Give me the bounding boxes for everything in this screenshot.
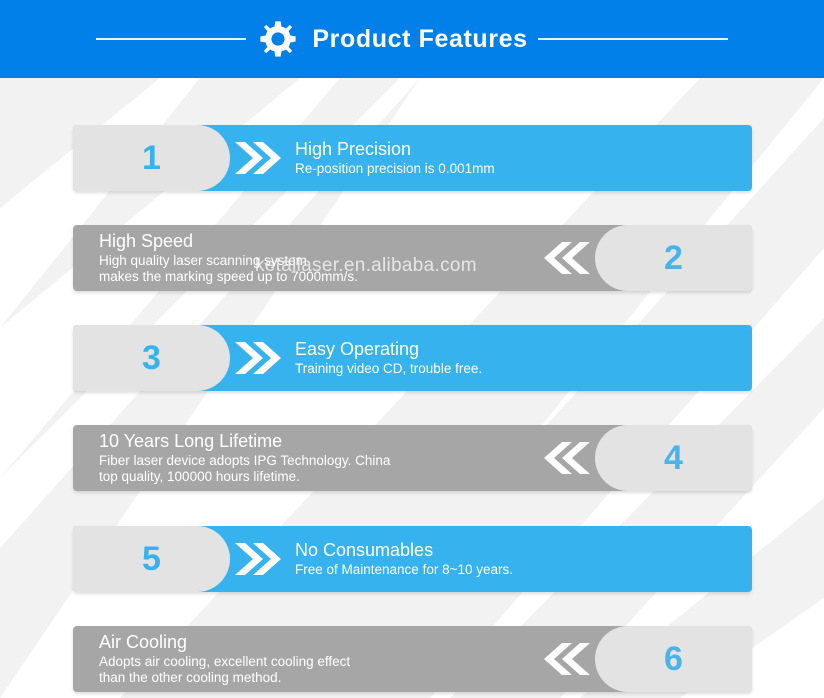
feature-number-2: 2 xyxy=(664,241,683,275)
feature-desc-2-line2: makes the marking speed up to 7000mm/s. xyxy=(99,269,530,285)
feature-desc-6-line2: than the other cooling method. xyxy=(99,670,530,686)
feature-text-3: Easy Operating Training video CD, troubl… xyxy=(295,325,738,391)
feature-text-4: 10 Years Long Lifetime Fiber laser devic… xyxy=(99,425,530,491)
feature-number-cap-4: 4 xyxy=(595,425,752,491)
feature-number-cap-6: 6 xyxy=(595,626,752,692)
feature-row-2[interactable]: 2 High Speed High quality laser scanning… xyxy=(73,225,752,291)
feature-title-6: Air Cooling xyxy=(99,632,530,652)
feature-number-cap-5: 5 xyxy=(73,526,230,592)
feature-text-5: No Consumables Free of Maintenance for 8… xyxy=(295,526,738,592)
feature-title-2: High Speed xyxy=(99,231,530,251)
feature-number-6: 6 xyxy=(664,642,683,676)
feature-row-6[interactable]: 6 Air Cooling Adopts air cooling, excell… xyxy=(73,626,752,692)
feature-text-6: Air Cooling Adopts air cooling, excellen… xyxy=(99,626,530,692)
header-rule-right xyxy=(538,38,728,40)
feature-title-3: Easy Operating xyxy=(295,339,738,359)
feature-row-1[interactable]: 1 High Precision Re-position precision i… xyxy=(73,125,752,191)
feature-desc-1-line1: Re-position precision is 0.001mm xyxy=(295,161,738,177)
feature-number-cap-1: 1 xyxy=(73,125,230,191)
chevron-right-icon xyxy=(225,125,289,191)
header-rule-left xyxy=(96,38,246,40)
gear-icon xyxy=(256,17,300,61)
feature-number-1: 1 xyxy=(142,141,161,175)
feature-rows: 1 High Precision Re-position precision i… xyxy=(0,78,824,698)
feature-number-5: 5 xyxy=(142,542,161,576)
feature-text-1: High Precision Re-position precision is … xyxy=(295,125,738,191)
feature-desc-2-line1: High quality laser scanning system xyxy=(99,253,530,269)
feature-desc-5-line1: Free of Maintenance for 8~10 years. xyxy=(295,562,738,578)
feature-desc-3-line1: Training video CD, trouble free. xyxy=(295,361,738,377)
feature-number-cap-2: 2 xyxy=(595,225,752,291)
feature-title-1: High Precision xyxy=(295,139,738,159)
product-features-page: Product Features 1 xyxy=(0,0,824,698)
feature-row-5[interactable]: 5 No Consumables Free of Maintenance for… xyxy=(73,526,752,592)
page-title: Product Features xyxy=(312,25,527,54)
feature-number-3: 3 xyxy=(142,341,161,375)
feature-desc-4-line2: top quality, 100000 hours lifetime. xyxy=(99,469,530,485)
chevron-right-icon xyxy=(225,325,289,391)
chevron-right-icon xyxy=(225,526,289,592)
feature-desc-4-line1: Fiber laser device adopts IPG Technology… xyxy=(99,453,530,469)
feature-row-3[interactable]: 3 Easy Operating Training video CD, trou… xyxy=(73,325,752,391)
chevron-left-icon xyxy=(536,626,600,692)
feature-text-2: High Speed High quality laser scanning s… xyxy=(99,225,530,291)
feature-number-cap-3: 3 xyxy=(73,325,230,391)
chevron-left-icon xyxy=(536,225,600,291)
header-banner: Product Features xyxy=(0,0,824,78)
header-content: Product Features xyxy=(0,0,824,78)
feature-number-4: 4 xyxy=(664,441,683,475)
feature-title-4: 10 Years Long Lifetime xyxy=(99,431,530,451)
feature-title-5: No Consumables xyxy=(295,540,738,560)
feature-row-4[interactable]: 4 10 Years Long Lifetime Fiber laser dev… xyxy=(73,425,752,491)
feature-desc-6-line1: Adopts air cooling, excellent cooling ef… xyxy=(99,654,530,670)
chevron-left-icon xyxy=(536,425,600,491)
